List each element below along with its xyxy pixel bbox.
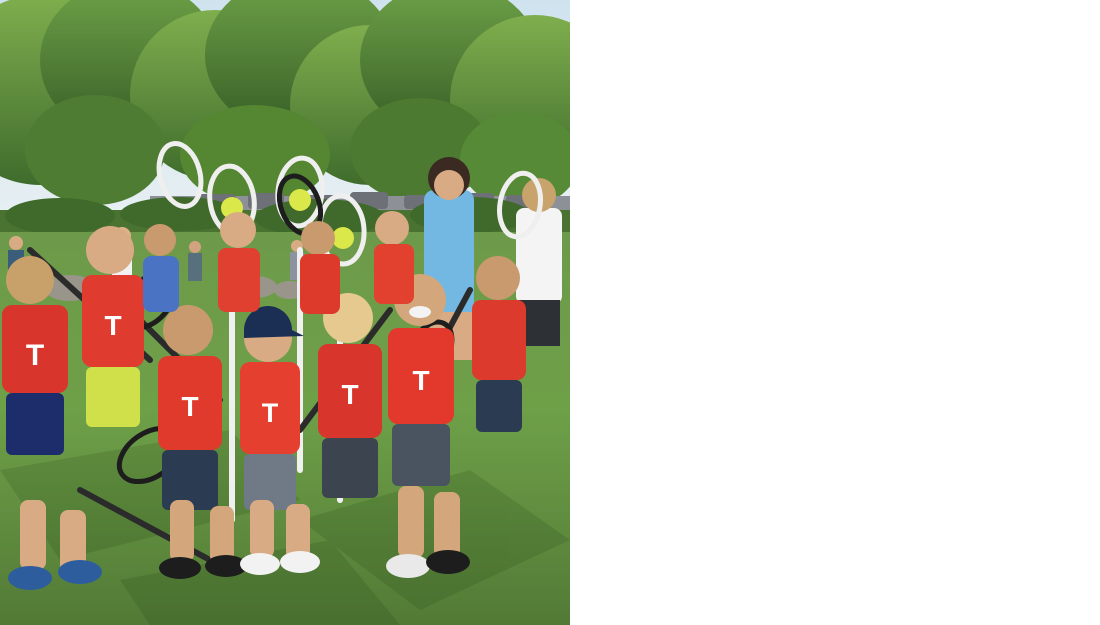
- program-flyer: T T T T T: [0, 0, 1100, 625]
- info-panel: FALL PROGRAM SNAPSHOT BOYS FIRST STICKS …: [570, 0, 1100, 625]
- svg-text:T: T: [26, 339, 44, 372]
- photo-illustration: T T T T T: [0, 0, 570, 625]
- svg-text:T: T: [412, 365, 429, 396]
- svg-text:T: T: [262, 398, 279, 428]
- svg-text:T: T: [341, 379, 358, 410]
- program-photo: T T T T T: [0, 0, 570, 625]
- svg-text:T: T: [104, 310, 121, 341]
- svg-text:T: T: [181, 391, 198, 422]
